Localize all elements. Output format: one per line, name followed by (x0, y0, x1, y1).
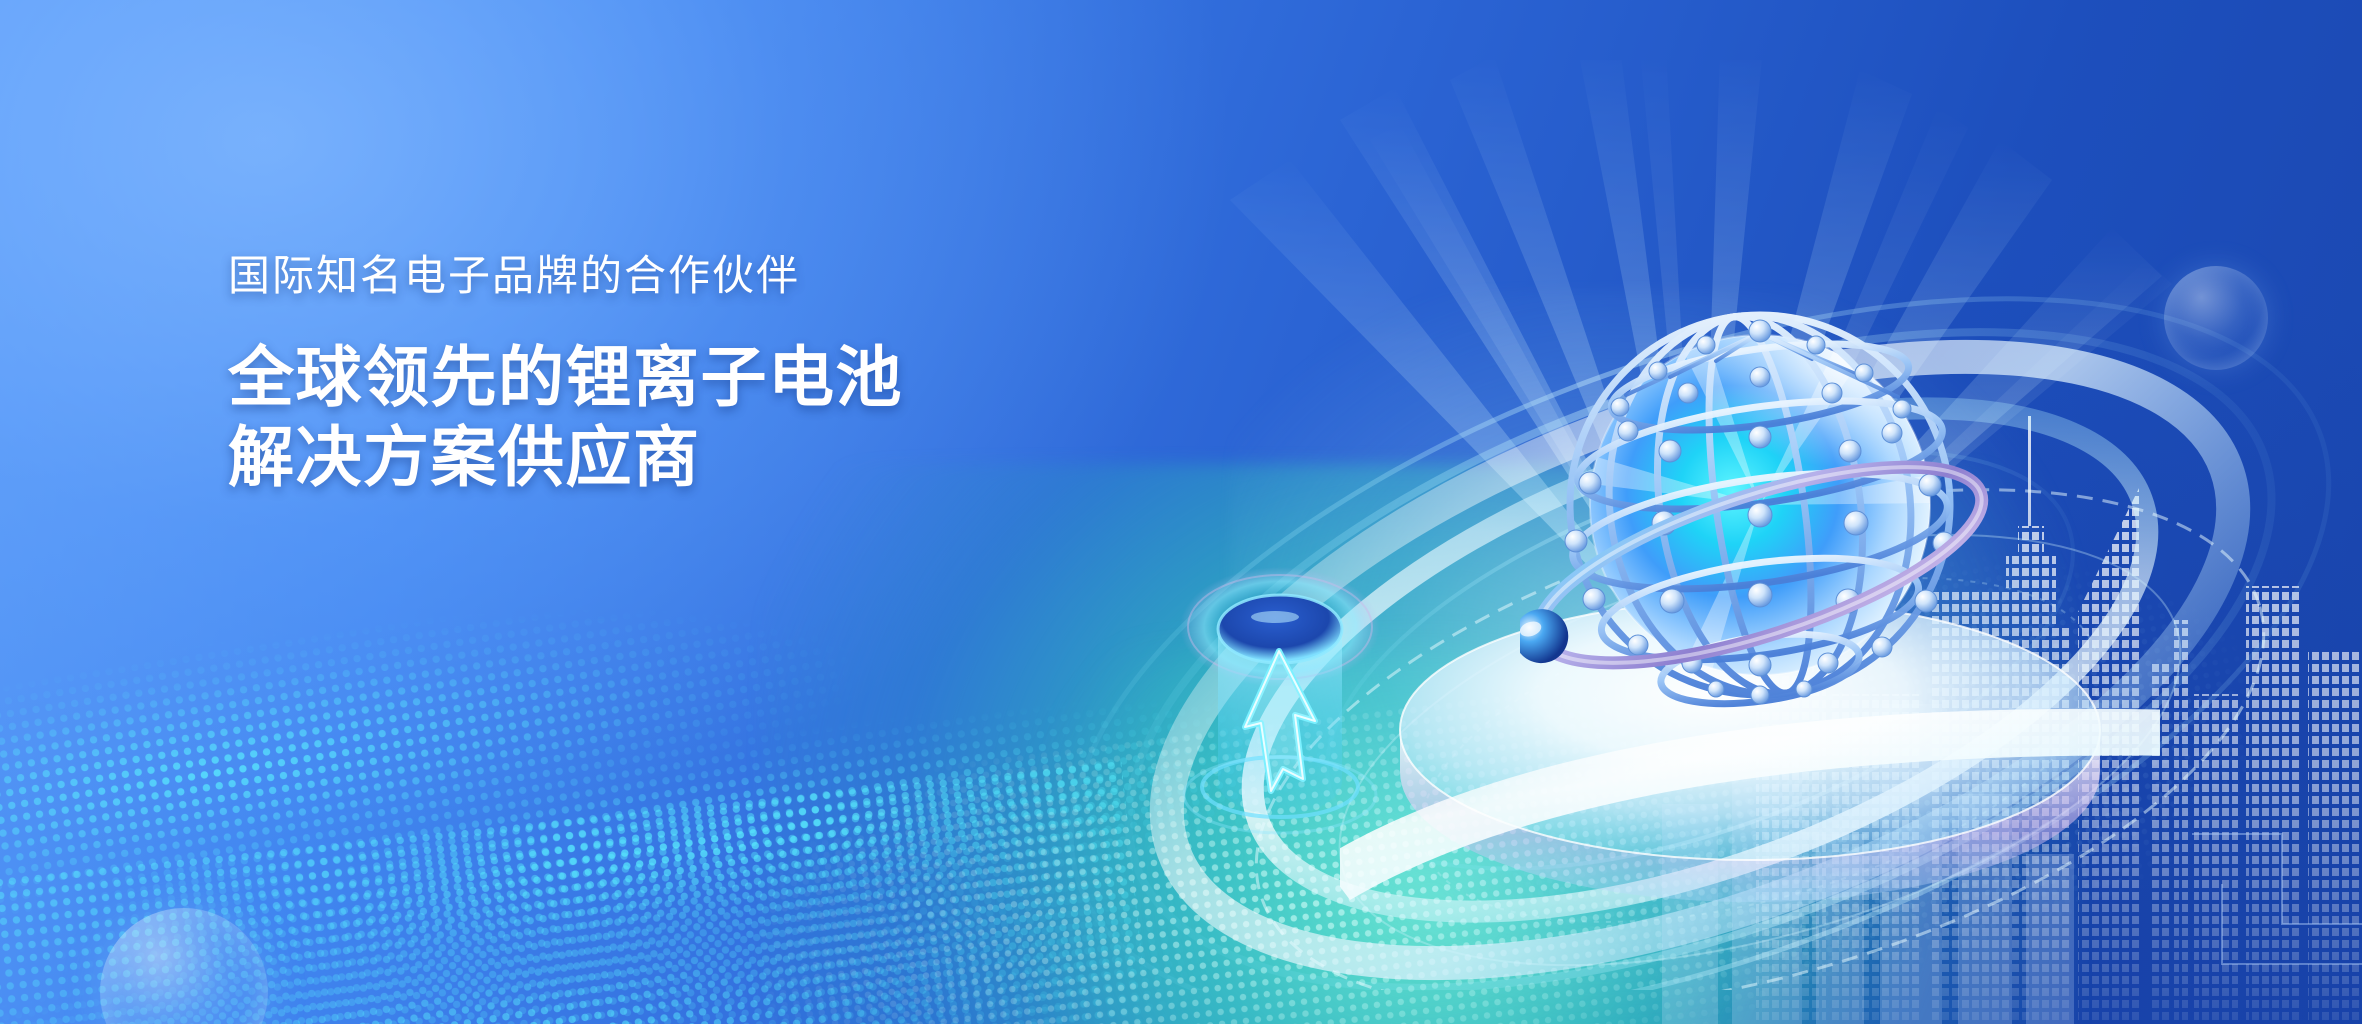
hero-headline-line-2: 解决方案供应商 (228, 417, 1128, 498)
hero-headline-line-1: 全球领先的锂离子电池 (228, 337, 1128, 418)
hero-banner: 国际知名电子品牌的合作伙伴 全球领先的锂离子电池 解决方案供应商 (0, 0, 2362, 1024)
hero-subtitle: 国际知名电子品牌的合作伙伴 (228, 250, 1128, 303)
halftone-dot-field-icon (0, 758, 1152, 1024)
up-arrow-portal-icon (1175, 555, 1385, 855)
wireframe-globe-icon (1520, 265, 2000, 745)
hero-copy: 国际知名电子品牌的合作伙伴 全球领先的锂离子电池 解决方案供应商 (228, 250, 1128, 498)
bubble-icon (100, 908, 268, 1024)
